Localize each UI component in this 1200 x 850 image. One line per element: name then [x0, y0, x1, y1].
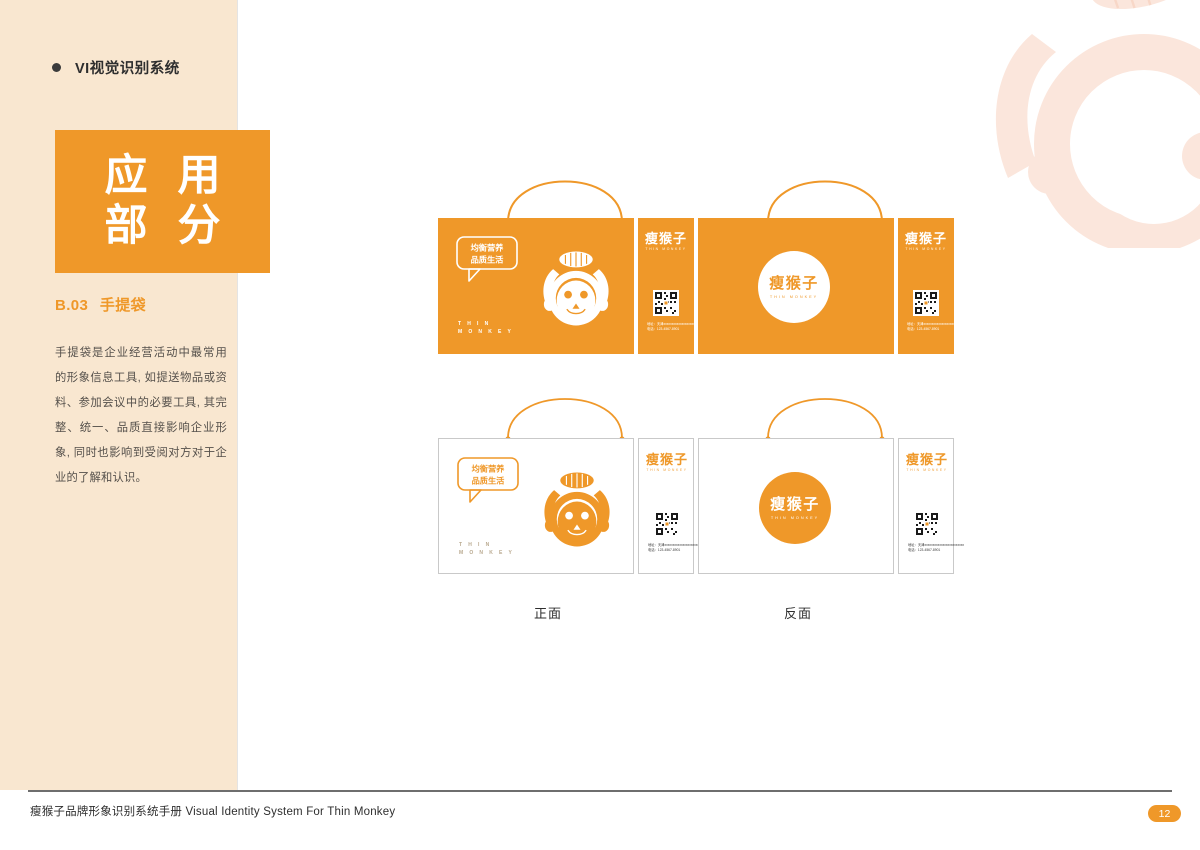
brand-name-cn: 瘦猴子 [898, 232, 954, 245]
bag-wordmark-line-1: T H I N [459, 542, 514, 550]
side-brandmark: 瘦猴子 THIN MONKEY [899, 453, 955, 472]
side-contact-info: 地址：天津xxxxxxxxxxxxxxxxxxxxxxxx 电话：123-456… [647, 322, 703, 333]
bubble-slogan-line-1: 均衡营养 [471, 243, 505, 253]
brand-name-cn: 瘦猴子 [639, 453, 695, 466]
contact-phone-line: 电话：123-4567-8901 [907, 327, 963, 332]
bubble-slogan-line-2: 品质生活 [471, 255, 504, 265]
speech-bubble-icon: 均衡营养 品质生活 [457, 457, 519, 504]
bag-side-panel: 瘦猴子 THIN MONKEY [898, 438, 954, 574]
qr-code-icon [914, 511, 940, 537]
qr-code-icon [913, 290, 939, 316]
side-contact-info: 地址：天津xxxxxxxxxxxxxxxxxxxxxxxx 电话：123-456… [648, 543, 704, 554]
speech-bubble-icon: 均衡营养 品质生活 [456, 236, 518, 283]
badge-brand-cn: 瘦猴子 [769, 276, 819, 291]
bag-wordmark-front: T H I N M O N K E Y [459, 542, 514, 558]
bag-wordmark-line-2: M O N K E Y [458, 329, 513, 337]
bag-handle-icon [760, 380, 890, 442]
bubble-slogan-line-1: 均衡营养 [472, 464, 506, 474]
badge-brand-en: THIN MONKEY [771, 516, 819, 520]
monkey-mascot-icon [532, 248, 620, 336]
brand-name-en: THIN MONKEY [638, 248, 694, 251]
bubble-slogan-line-2: 品质生活 [472, 476, 505, 486]
qr-code-icon [654, 511, 680, 537]
side-contact-info: 地址：天津xxxxxxxxxxxxxxxxxxxxxxxx 电话：123-456… [907, 322, 963, 333]
side-brandmark: 瘦猴子 THIN MONKEY [639, 453, 695, 472]
bag-mockup-front-white: 均衡营养 品质生活 [438, 380, 698, 580]
caption-front: 正面 [534, 603, 562, 622]
bag-back-face: 瘦猴子 THIN MONKEY [698, 218, 894, 354]
brand-name-cn: 瘦猴子 [638, 232, 694, 245]
bag-mockup-back-orange: 瘦猴子 THIN MONKEY 瘦猴子 THIN MONKEY [698, 160, 958, 360]
page-number-badge: 12 [1148, 805, 1181, 822]
side-brandmark: 瘦猴子 THIN MONKEY [638, 232, 694, 251]
contact-phone-line: 电话：123-4567-8901 [647, 327, 703, 332]
brand-name-cn: 瘦猴子 [899, 453, 955, 466]
bag-mockup-front-orange: 均衡营养 品质生活 [438, 160, 698, 360]
side-brandmark: 瘦猴子 THIN MONKEY [898, 232, 954, 251]
bag-front-face: 均衡营养 品质生活 [438, 438, 634, 574]
caption-back: 反面 [784, 603, 812, 622]
contact-phone-line: 电话：123-4567-8901 [908, 548, 964, 553]
footer-text: 瘦猴子品牌形象识别系统手册 Visual Identity System For… [30, 803, 395, 819]
bag-handle-icon [500, 160, 630, 222]
bag-wordmark-front: T H I N M O N K E Y [458, 321, 513, 337]
badge-brand-cn: 瘦猴子 [770, 497, 820, 512]
bag-wordmark-line-1: T H I N [458, 321, 513, 329]
bag-front-face: 均衡营养 品质生活 [438, 218, 634, 354]
side-contact-info: 地址：天津xxxxxxxxxxxxxxxxxxxxxxxx 电话：123-456… [908, 543, 964, 554]
bag-handle-icon [760, 160, 890, 222]
mockup-stage: 均衡营养 品质生活 [0, 0, 1200, 790]
bag-handle-icon [500, 380, 630, 442]
brand-name-en: THIN MONKEY [899, 469, 955, 472]
bag-side-panel: 瘦猴子 THIN MONKEY [898, 218, 954, 354]
bag-wordmark-line-2: M O N K E Y [459, 550, 514, 558]
brand-name-en: THIN MONKEY [639, 469, 695, 472]
brand-name-en: THIN MONKEY [898, 248, 954, 251]
bag-side-panel: 瘦猴子 THIN MONKEY [638, 218, 694, 354]
contact-phone-line: 电话：123-4567-8901 [648, 548, 704, 553]
monkey-mascot-icon [533, 469, 621, 557]
bag-back-face: 瘦猴子 THIN MONKEY [698, 438, 894, 574]
logo-badge: 瘦猴子 THIN MONKEY [759, 472, 831, 544]
badge-brand-en: THIN MONKEY [770, 295, 818, 299]
logo-badge: 瘦猴子 THIN MONKEY [758, 251, 830, 323]
footer-divider [28, 790, 1172, 792]
bag-side-panel: 瘦猴子 THIN MONKEY [638, 438, 694, 574]
qr-code-icon [653, 290, 679, 316]
bag-mockup-back-white: 瘦猴子 THIN MONKEY 瘦猴子 THIN MONKEY [698, 380, 958, 580]
